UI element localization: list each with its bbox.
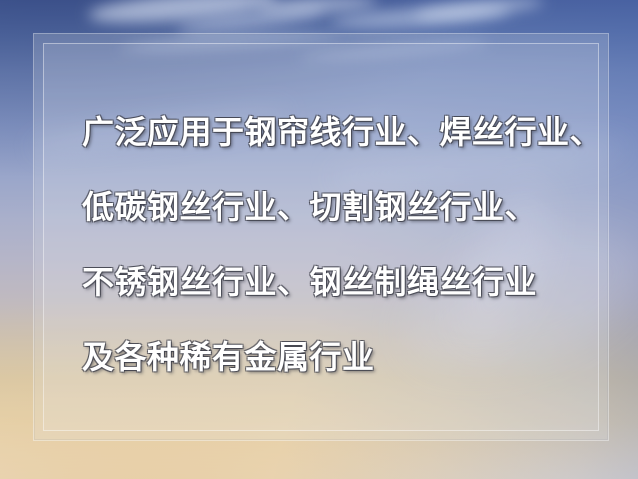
- slide-text-line-2: 低碳钢丝行业、切割钢丝行业、: [82, 191, 638, 223]
- slide-text-block: 广泛应用于钢帘线行业、焊丝行业、 低碳钢丝行业、切割钢丝行业、 不锈钢丝行业、钢…: [82, 116, 638, 373]
- presentation-slide: 广泛应用于钢帘线行业、焊丝行业、 低碳钢丝行业、切割钢丝行业、 不锈钢丝行业、钢…: [0, 0, 638, 479]
- slide-text-line-3: 不锈钢丝行业、钢丝制绳丝行业: [82, 266, 638, 298]
- content-panel: 广泛应用于钢帘线行业、焊丝行业、 低碳钢丝行业、切割钢丝行业、 不锈钢丝行业、钢…: [33, 33, 609, 441]
- slide-text-line-1: 广泛应用于钢帘线行业、焊丝行业、: [82, 116, 638, 148]
- slide-text-line-4: 及各种稀有金属行业: [82, 341, 638, 373]
